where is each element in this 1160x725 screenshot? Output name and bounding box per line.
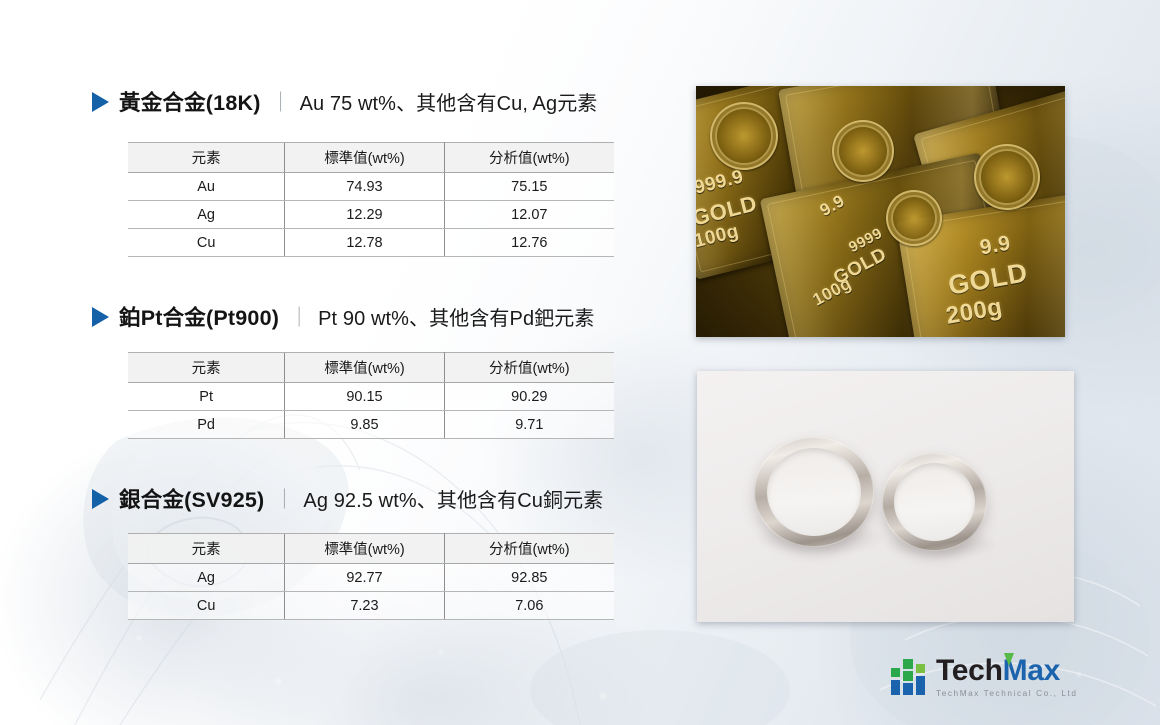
column-header-standard: 標準值(wt%): [285, 143, 444, 173]
cell-analysis: 75.15: [444, 173, 614, 201]
cell-standard: 92.77: [285, 564, 444, 592]
alloy-composition-table: 元素 標準值(wt%) 分析值(wt%) Pt 90.15 90.29 Pd 9…: [128, 352, 614, 439]
table-row: Au 74.93 75.15: [128, 173, 614, 201]
section-title: 銀合金(SV925): [119, 483, 264, 514]
triangle-right-icon: [92, 489, 109, 509]
column-header-standard: 標準值(wt%): [285, 534, 444, 564]
cell-analysis: 9.71: [444, 411, 614, 439]
column-header-standard: 標準值(wt%): [285, 353, 444, 383]
cell-element: Cu: [128, 592, 285, 620]
content-column: 黃金合金(18K) ｜ Au 75 wt%、其他含有Cu, Ag元素 元素 標準…: [0, 0, 680, 725]
column-header-element: 元素: [128, 353, 285, 383]
table-header-row: 元素 標準值(wt%) 分析值(wt%): [128, 353, 614, 383]
alloy-section-gold: 黃金合金(18K) ｜ Au 75 wt%、其他含有Cu, Ag元素 元素 標準…: [0, 86, 660, 116]
cell-standard: 12.29: [285, 201, 444, 229]
table-row: Cu 12.78 12.76: [128, 229, 614, 257]
cell-element: Au: [128, 173, 285, 201]
alloy-composition-table: 元素 標準值(wt%) 分析值(wt%) Au 74.93 75.15 Ag 1…: [128, 142, 614, 257]
section-heading: 銀合金(SV925) ｜ Ag 92.5 wt%、其他含有Cu銅元素: [0, 483, 660, 513]
logo-tagline: TechMax Technical Co., Ltd: [936, 689, 1078, 698]
column-header-element: 元素: [128, 534, 285, 564]
cell-standard: 12.78: [285, 229, 444, 257]
alloy-section-silver: 銀合金(SV925) ｜ Ag 92.5 wt%、其他含有Cu銅元素 元素 標準…: [0, 483, 660, 513]
logo-wordmark: TechMax TechMax Technical Co., Ltd: [936, 656, 1078, 698]
table-header-row: 元素 標準值(wt%) 分析值(wt%): [128, 143, 614, 173]
cell-standard: 74.93: [285, 173, 444, 201]
cell-analysis: 12.76: [444, 229, 614, 257]
wedding-rings-photo: [697, 371, 1074, 622]
section-heading: 鉑Pt合金(Pt900) ｜ Pt 90 wt%、其他含有Pd鈀元素: [0, 301, 660, 331]
section-heading: 黃金合金(18K) ｜ Au 75 wt%、其他含有Cu, Ag元素: [0, 86, 660, 116]
cell-element: Ag: [128, 564, 285, 592]
alloy-composition-table: 元素 標準值(wt%) 分析值(wt%) Ag 92.77 92.85 Cu 7…: [128, 533, 614, 620]
alloy-section-platinum: 鉑Pt合金(Pt900) ｜ Pt 90 wt%、其他含有Pd鈀元素 元素 標準…: [0, 301, 660, 331]
table-row: Ag 12.29 12.07: [128, 201, 614, 229]
section-subtitle: Au 75 wt%、其他含有Cu, Ag元素: [300, 87, 598, 116]
wedding-ring: [882, 453, 987, 551]
cell-element: Pd: [128, 411, 285, 439]
cell-analysis: 92.85: [444, 564, 614, 592]
slide-canvas: 黃金合金(18K) ｜ Au 75 wt%、其他含有Cu, Ag元素 元素 標準…: [0, 0, 1160, 725]
title-separator: ｜: [279, 301, 318, 330]
gold-bars-illustration: 999.9 GOLD 100g 9.9 9999 GOLD 100g 9.9 G…: [696, 86, 1065, 337]
cell-standard: 90.15: [285, 383, 444, 411]
table-row: Pd 9.85 9.71: [128, 411, 614, 439]
cell-analysis: 7.06: [444, 592, 614, 620]
column-header-element: 元素: [128, 143, 285, 173]
logo-green-accent-icon: [1004, 653, 1014, 666]
wedding-ring: [754, 437, 874, 547]
cell-standard: 9.85: [285, 411, 444, 439]
rings-illustration: [697, 371, 1074, 622]
section-subtitle: Ag 92.5 wt%、其他含有Cu銅元素: [303, 484, 603, 513]
cell-analysis: 90.29: [444, 383, 614, 411]
column-header-analysis: 分析值(wt%): [444, 534, 614, 564]
gold-bullion-photo: 999.9 GOLD 100g 9.9 9999 GOLD 100g 9.9 G…: [696, 86, 1065, 337]
techmax-logo: TechMax TechMax Technical Co., Ltd: [891, 653, 1071, 701]
table-row: Pt 90.15 90.29: [128, 383, 614, 411]
table-row: Ag 92.77 92.85: [128, 564, 614, 592]
cell-element: Pt: [128, 383, 285, 411]
section-subtitle: Pt 90 wt%、其他含有Pd鈀元素: [318, 302, 594, 331]
cell-standard: 7.23: [285, 592, 444, 620]
cell-analysis: 12.07: [444, 201, 614, 229]
table-header-row: 元素 標準值(wt%) 分析值(wt%): [128, 534, 614, 564]
triangle-right-icon: [92, 307, 109, 327]
cell-element: Ag: [128, 201, 285, 229]
triangle-right-icon: [92, 92, 109, 112]
title-separator: ｜: [264, 483, 303, 512]
logo-word-tech: Tech: [936, 654, 1003, 687]
title-separator: ｜: [261, 86, 300, 115]
table-row: Cu 7.23 7.06: [128, 592, 614, 620]
column-header-analysis: 分析值(wt%): [444, 143, 614, 173]
techmax-square-grid-icon: [891, 659, 929, 695]
column-header-analysis: 分析值(wt%): [444, 353, 614, 383]
cell-element: Cu: [128, 229, 285, 257]
section-title: 黃金合金(18K): [119, 86, 261, 117]
section-title: 鉑Pt合金(Pt900): [119, 301, 279, 332]
